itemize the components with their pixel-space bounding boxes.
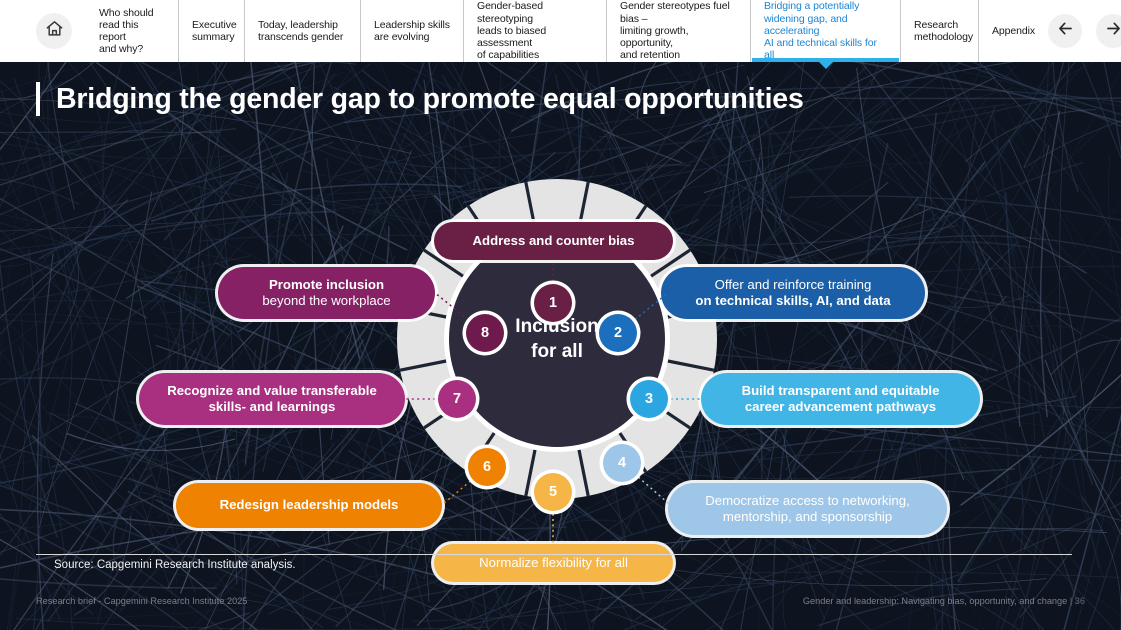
nav-item-research-methodology[interactable]: Research methodology bbox=[900, 0, 978, 62]
top-navigation-bar: Who should read this report and why? Exe… bbox=[0, 0, 1121, 62]
nav-item-gender-stereotypes-fuel-bias[interactable]: Gender stereotypes fuel bias – limiting … bbox=[606, 0, 750, 62]
home-icon bbox=[45, 19, 64, 43]
nav-item-today-leadership[interactable]: Today, leadership transcends gender bbox=[244, 0, 360, 62]
active-tab-caret bbox=[819, 62, 833, 69]
nav-item-label: Bridging a potentially widening gap, and… bbox=[764, 0, 887, 61]
next-slide-button[interactable] bbox=[1096, 14, 1121, 48]
item-badge-number: 4 bbox=[618, 455, 626, 471]
previous-slide-button[interactable] bbox=[1048, 14, 1082, 48]
footer-right: Gender and leadership: Navigating bias, … bbox=[803, 596, 1085, 606]
nav-item-bridging-gap[interactable]: Bridging a potentially widening gap, and… bbox=[750, 0, 900, 62]
nav-item-list: Who should read this report and why? Exe… bbox=[86, 0, 1048, 62]
item-badge-4[interactable]: 4 bbox=[603, 444, 641, 482]
arrow-left-icon bbox=[1056, 19, 1075, 43]
nav-item-gender-based-stereotyping[interactable]: Gender-based stereotyping leads to biase… bbox=[463, 0, 606, 62]
nav-item-who-should-read[interactable]: Who should read this report and why? bbox=[86, 0, 178, 62]
item-badge-number: 2 bbox=[614, 325, 622, 341]
nav-item-label: Executive summary bbox=[192, 19, 237, 43]
item-badge-6[interactable]: 6 bbox=[468, 448, 506, 486]
footer-left-text: Research brief - Capgemini Research Inst… bbox=[36, 596, 247, 606]
inclusion-wheel-diagram: Inclusion for all Address and counter bi… bbox=[0, 62, 1121, 562]
item-badge-3[interactable]: 3 bbox=[630, 380, 668, 418]
nav-item-label: Gender-based stereotyping leads to biase… bbox=[477, 0, 593, 61]
nav-item-label: Gender stereotypes fuel bias – limiting … bbox=[620, 0, 737, 61]
item-badge-1[interactable]: 1 bbox=[534, 284, 572, 322]
home-button[interactable] bbox=[36, 13, 72, 49]
nav-item-label: Appendix bbox=[992, 25, 1035, 37]
item-badge-5[interactable]: 5 bbox=[534, 473, 572, 511]
item-badge-number: 5 bbox=[549, 484, 557, 500]
item-badge-number: 6 bbox=[483, 459, 491, 475]
nav-arrow-buttons bbox=[1048, 14, 1121, 48]
nav-item-leadership-skills[interactable]: Leadership skills are evolving bbox=[360, 0, 463, 62]
item-badge-8[interactable]: 8 bbox=[466, 314, 504, 352]
slide-content: Bridging the gender gap to promote equal… bbox=[0, 62, 1121, 630]
nav-item-appendix[interactable]: Appendix bbox=[978, 0, 1048, 62]
slide-page: Who should read this report and why? Exe… bbox=[0, 0, 1121, 630]
item-badge-number: 1 bbox=[549, 295, 557, 311]
nav-item-label: Research methodology bbox=[914, 19, 973, 43]
footer-report-title: Gender and leadership: Navigating bias, … bbox=[803, 596, 1067, 606]
footer-page-number: | 36 bbox=[1070, 596, 1085, 606]
item-badge-number: 8 bbox=[481, 325, 489, 341]
arrow-right-icon bbox=[1104, 19, 1121, 43]
nav-item-executive-summary[interactable]: Executive summary bbox=[178, 0, 244, 62]
nav-item-label: Today, leadership transcends gender bbox=[258, 19, 343, 43]
nav-item-label: Who should read this report and why? bbox=[99, 7, 165, 56]
nav-item-label: Leadership skills are evolving bbox=[374, 19, 450, 43]
item-badge-2[interactable]: 2 bbox=[599, 314, 637, 352]
item-badge-number: 7 bbox=[453, 391, 461, 407]
item-badge-number: 3 bbox=[645, 391, 653, 407]
item-badge-7[interactable]: 7 bbox=[438, 380, 476, 418]
